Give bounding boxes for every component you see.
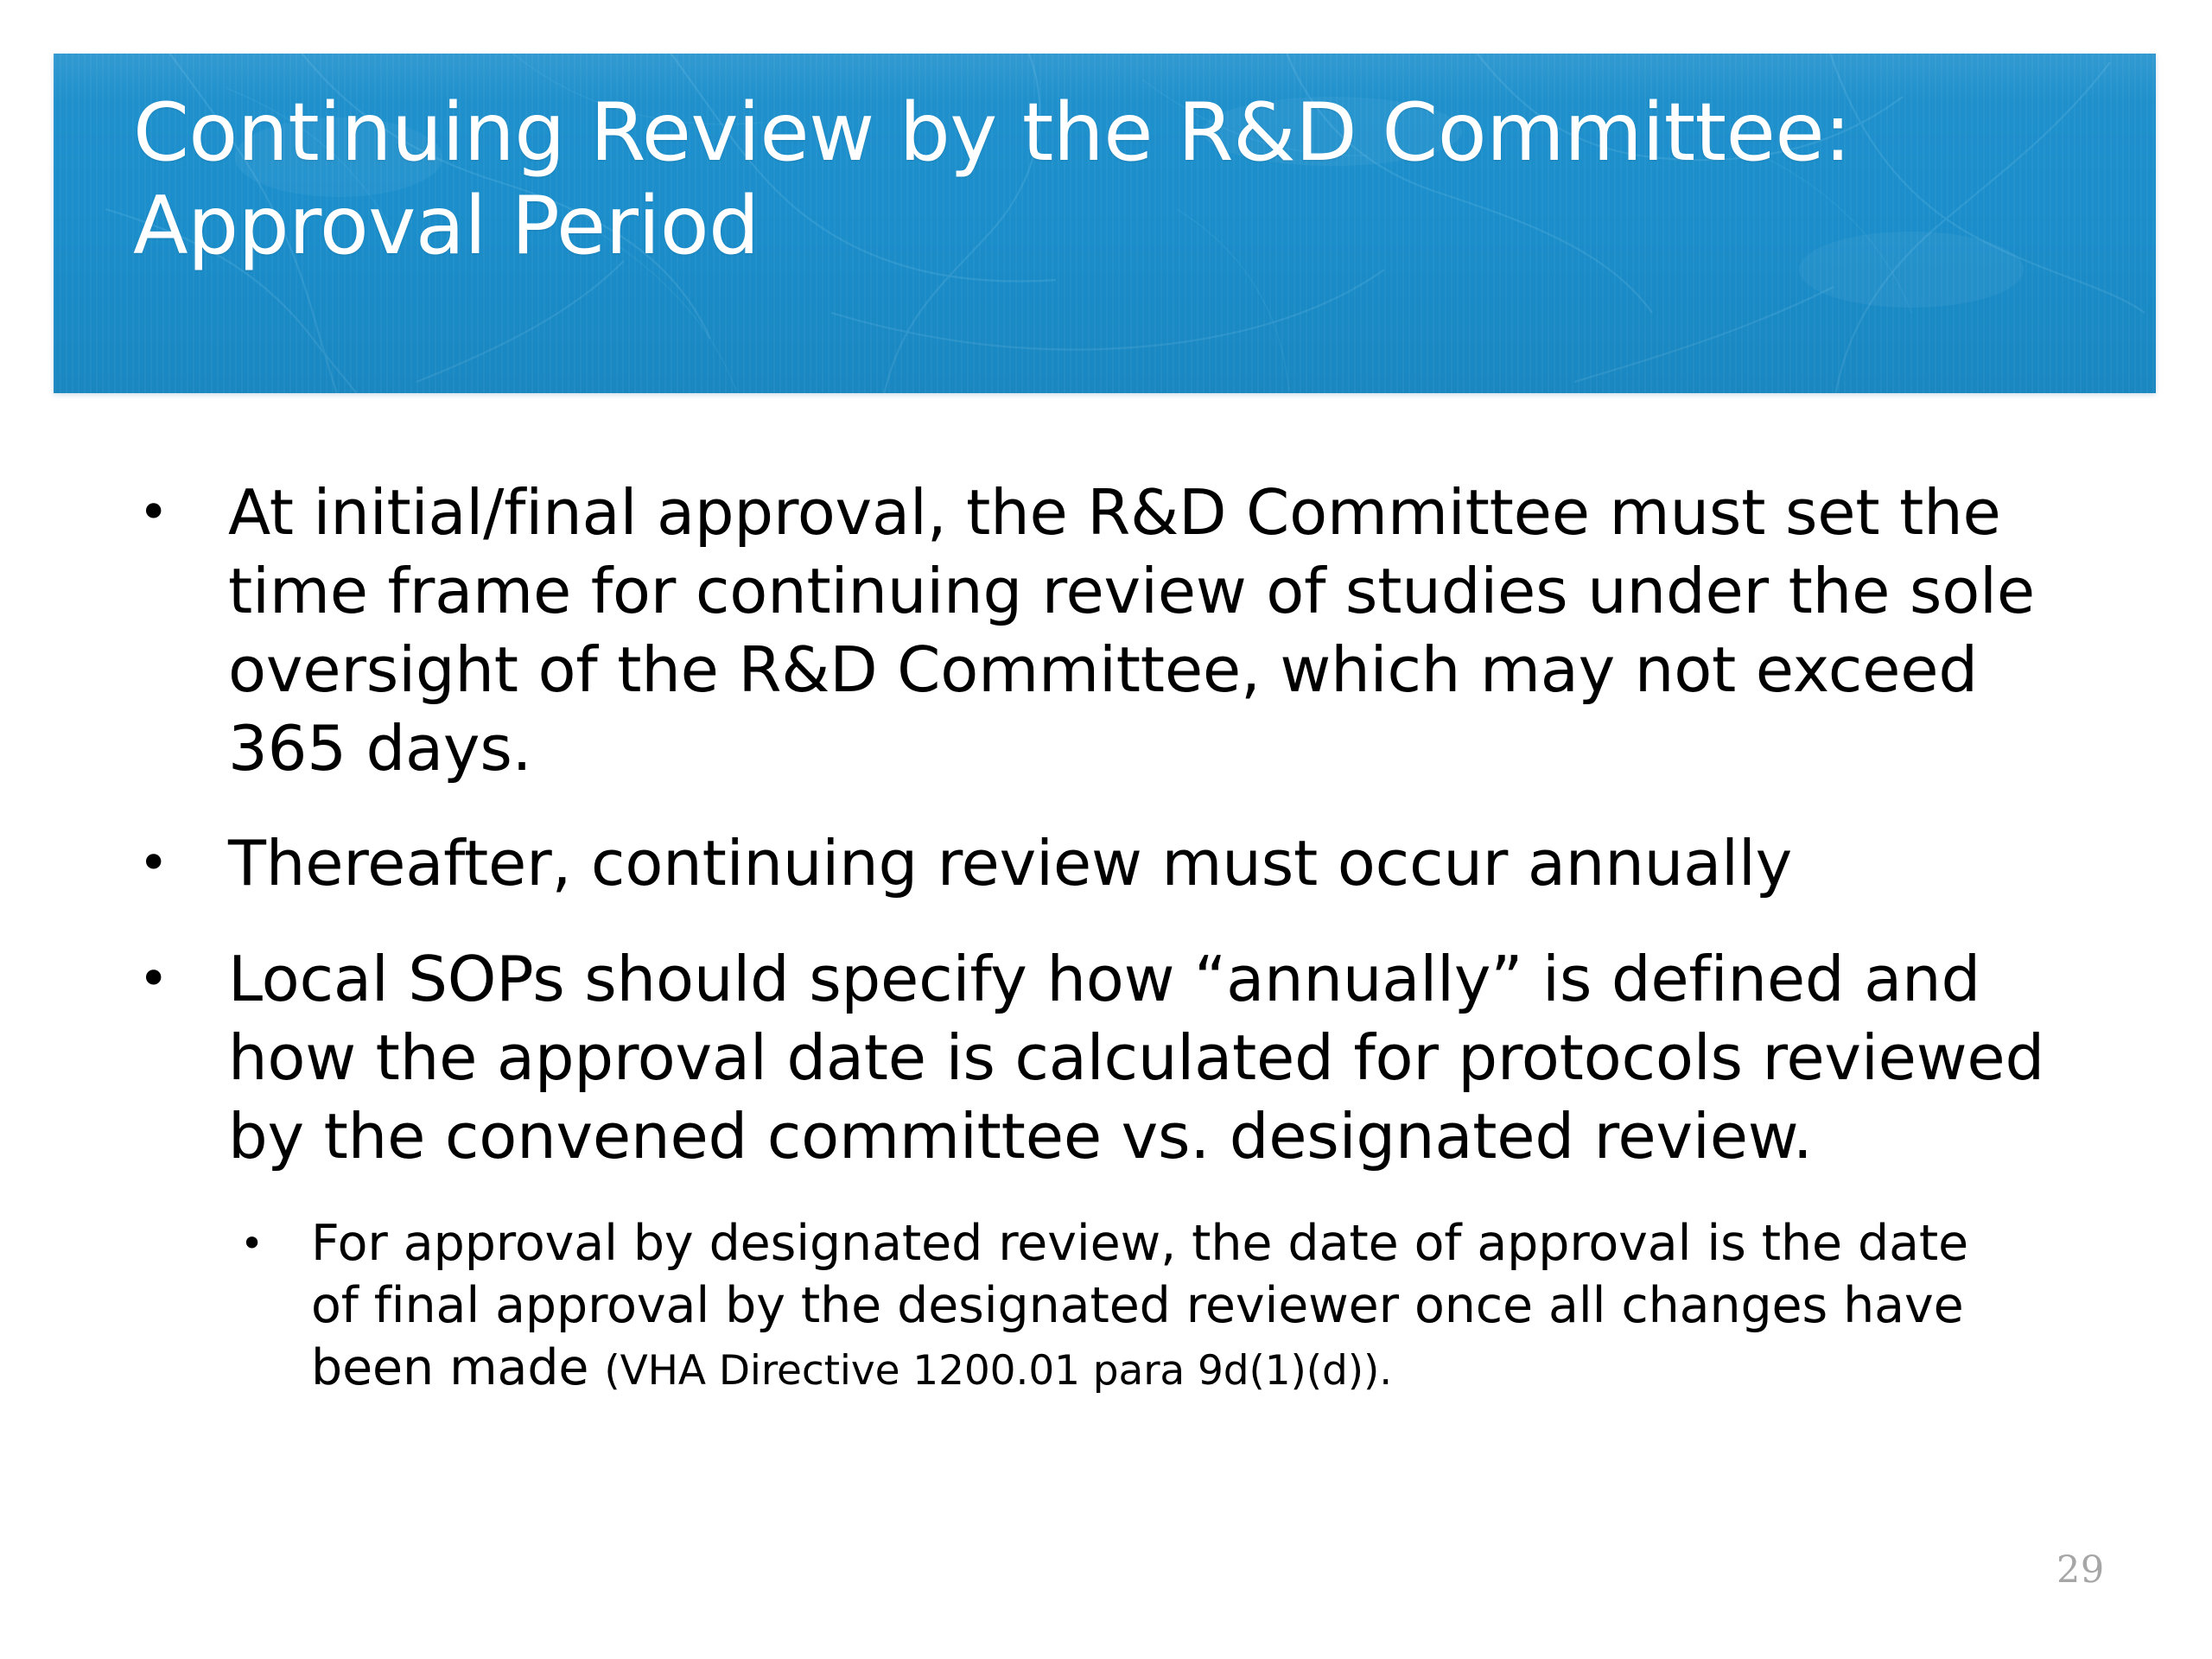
sub-bullet-item: • For approval by designated review, the… [0, 1212, 2212, 1400]
sub-bullet-citation: (VHA Directive 1200.01 para 9d(1)(d)). [604, 1347, 1392, 1395]
bullet-text: At initial/final approval, the R&D Commi… [228, 474, 2108, 788]
bullet-item: • Thereafter, continuing review must occ… [0, 824, 2212, 903]
bullet-text: Thereafter, continuing review must occur… [228, 824, 2108, 903]
bullet-dot-icon: • [130, 940, 228, 1019]
title-banner: Continuing Review by the R&D Committee: … [54, 54, 2156, 393]
page-number: 29 [2056, 1548, 2105, 1592]
bullet-dot-icon: • [130, 824, 228, 903]
sub-bullet-text-wrapper: For approval by designated review, the d… [311, 1212, 1987, 1400]
slide-title: Continuing Review by the R&D Committee: … [133, 86, 2120, 273]
bullet-item: • At initial/final approval, the R&D Com… [0, 474, 2212, 788]
slide-body: • At initial/final approval, the R&D Com… [0, 474, 2212, 1400]
slide-canvas: Continuing Review by the R&D Committee: … [0, 0, 2212, 1659]
bullet-dot-icon: • [130, 474, 228, 552]
sub-bullet-dot-icon: • [240, 1212, 311, 1275]
bullet-text: Local SOPs should specify how “annually”… [228, 940, 2108, 1176]
bullet-item: • Local SOPs should specify how “annuall… [0, 940, 2212, 1176]
